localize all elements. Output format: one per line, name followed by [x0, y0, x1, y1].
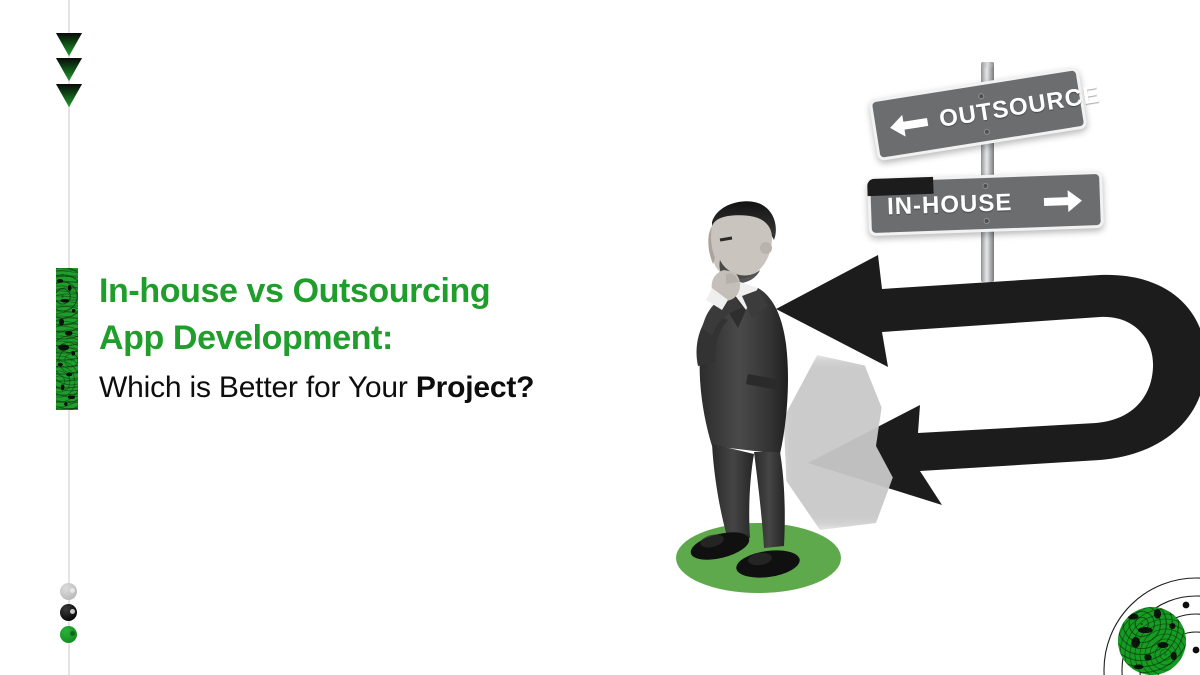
sign-inhouse[interactable]: IN-HOUSE: [867, 171, 1104, 236]
headline-accent-bar: [56, 268, 78, 410]
orbit-rings-decoration: [1100, 550, 1200, 675]
dot-green-icon: [60, 626, 77, 643]
thinking-businessman-figure: [672, 196, 862, 590]
title-line-2: App Development:: [99, 315, 739, 362]
subtitle-regular-text: Which is Better for Your: [99, 371, 416, 404]
sign-outsource[interactable]: OUTSOURCE: [868, 67, 1087, 161]
slide-canvas: In-house vs Outsourcing App Development:…: [0, 0, 1200, 675]
subtitle-bold-text: Project?: [416, 371, 534, 404]
page-subtitle: Which is Better for Your Project?: [99, 368, 534, 408]
page-title: In-house vs Outsourcing App Development:: [99, 268, 739, 362]
dot-gray-icon: [60, 583, 77, 600]
orbit-green-blob: [1118, 607, 1186, 675]
sign-inhouse-label: IN-HOUSE: [887, 189, 1013, 221]
title-line-1: In-house vs Outsourcing: [99, 268, 739, 315]
dot-black-icon: [60, 604, 77, 621]
arrow-left-icon: [886, 109, 932, 141]
triangle-down-icon-2: [56, 58, 82, 81]
sign-outsource-label: OUTSOURCE: [937, 81, 1102, 134]
triangle-down-icon-1: [56, 33, 82, 56]
triangle-down-icon-3: [56, 84, 82, 107]
arrow-right-icon: [1042, 187, 1085, 214]
